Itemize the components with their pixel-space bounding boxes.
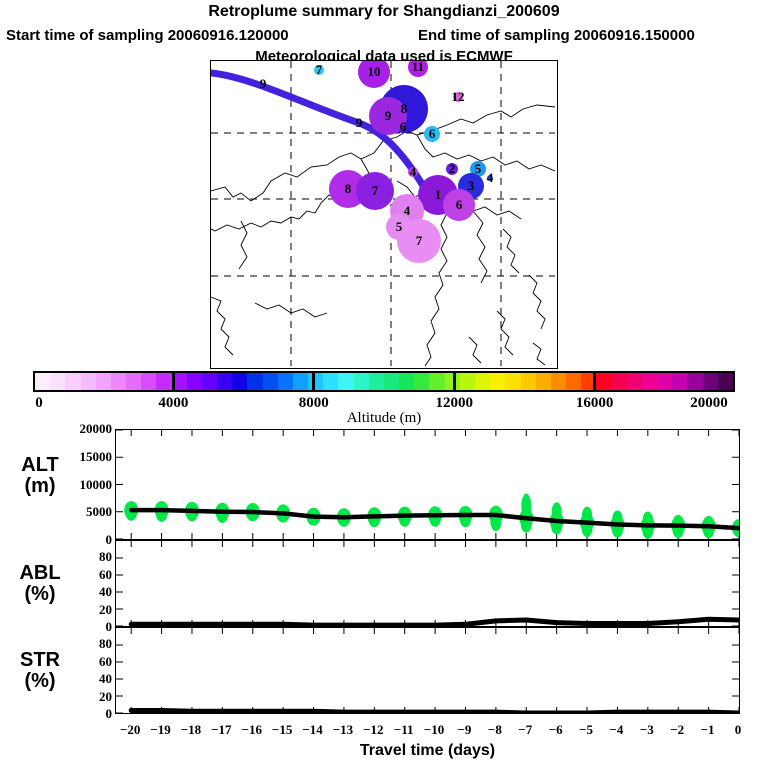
abl-label-main: ABL [4,563,76,584]
colorbar-cell [354,373,369,390]
alt-spread-marker [190,504,195,508]
y-tick-label: 0 [106,532,113,548]
colorbar-cell [414,373,429,390]
colorbar-cell [338,373,353,390]
colorbar-cell [156,373,171,390]
y-tick-label: 0 [106,619,113,635]
alt-spread-marker [433,508,438,512]
y-tick-label: 60 [99,654,112,670]
x-tick-label: −3 [640,722,654,738]
retroplume-map: 9710111289966543872416457 [210,60,558,369]
x-tick-label: −1 [701,722,715,738]
map-marker-label: 12 [452,89,465,105]
colorbar-cell [232,373,247,390]
y-tick-label: 0 [106,706,113,722]
map-marker-label: 8 [345,181,352,197]
map-marker-label: 9 [356,115,363,131]
colorbar-cell [505,373,520,390]
colorbar-cell [126,373,141,390]
colorbar-cell [596,373,611,390]
alt-axis-label: ALT (m) [4,455,76,497]
map-marker-label: 7 [372,183,379,199]
alt-spread-marker [645,512,650,516]
altitude-colorbar [33,371,735,392]
str-axis-label: STR (%) [4,650,76,692]
x-tick-label: −4 [609,722,623,738]
y-tick-label: 40 [99,584,112,600]
abl-plot [116,541,739,626]
map-marker-label: 7 [316,62,323,78]
str-panel [115,627,740,714]
alt-spread-marker [554,502,559,506]
colorbar-cell [536,373,551,390]
x-tick-label: −15 [272,722,292,738]
str-plot [116,628,739,713]
x-tick-label: −18 [181,722,201,738]
x-tick-label: −2 [670,722,684,738]
alt-spread-marker [615,510,620,514]
map-marker-label: 4 [487,170,494,186]
x-tick-label: −17 [211,722,231,738]
map-marker-label: 3 [468,178,475,194]
alt-spread-marker [159,503,164,507]
x-tick-label: −14 [302,722,322,738]
colorbar-cell [718,373,733,390]
colorbar-cell [642,373,657,390]
colorbar-cell [566,373,581,390]
colorbar-title: Altitude (m) [0,410,768,427]
map-marker-label: 7 [416,233,423,249]
colorbar-cell [384,373,399,390]
x-tick-label: −9 [458,722,472,738]
colorbar-separator [453,371,456,392]
map-marker-label: 8 [401,101,408,117]
x-tick-label: −5 [579,722,593,738]
str-label-main: STR [4,650,76,671]
str-line [131,710,739,713]
colorbar-cell [81,373,96,390]
x-tick-label: 0 [735,722,742,738]
map-marker-label: 10 [368,64,381,80]
map-marker-label: 6 [400,119,407,135]
str-label-unit: (%) [4,671,76,692]
x-tick-label: −6 [549,722,563,738]
colorbar-cell [35,373,50,390]
colorbar-separator [593,371,596,392]
alt-label-main: ALT [4,455,76,476]
colorbar-cell [65,373,80,390]
colorbar-cell [141,373,156,390]
y-tick-label: 10000 [80,477,113,493]
x-axis-title: Travel time (days) [115,742,740,760]
y-tick-label: 20 [99,602,112,618]
colorbar-cell [475,373,490,390]
y-tick-label: 80 [99,636,112,652]
colorbar-cell [657,373,672,390]
y-tick-label: 20000 [80,421,113,437]
colorbar-cell [521,373,536,390]
colorbar-cell [369,373,384,390]
map-marker-label: 6 [456,197,463,213]
colorbar-separator [312,371,315,392]
alt-spread-marker [250,506,255,510]
colorbar-cell [551,373,566,390]
x-tick-label: −12 [363,722,383,738]
x-tick-label: −11 [394,722,414,738]
start-time-label: Start time of sampling 20060916.120000 [6,27,289,44]
map-marker-label: 4 [404,203,411,219]
colorbar-cell [612,373,627,390]
colorbar-cell [429,373,444,390]
y-tick-label: 5000 [86,504,112,520]
colorbar-cell [187,373,202,390]
colorbar-cell [703,373,718,390]
alt-plot [116,430,739,539]
map-marker-label: 1 [435,187,442,203]
alt-spread-marker [372,507,377,511]
x-tick-label: −8 [488,722,502,738]
y-tick-label: 80 [99,549,112,565]
colorbar-cell [111,373,126,390]
colorbar-cell [490,373,505,390]
colorbar-cell [399,373,414,390]
alt-spread-marker [706,516,711,520]
page-title: Retroplume summary for Shangdianzi_20060… [0,3,768,21]
colorbar-cell [217,373,232,390]
alt-label-unit: (m) [4,476,76,497]
y-tick-label: 20 [99,689,112,705]
map-marker-label: 5 [396,219,403,235]
y-tick-label: 15000 [80,449,113,465]
x-tick-label: −16 [242,722,262,738]
colorbar-cell [672,373,687,390]
alt-spread-marker [676,515,681,519]
colorbar-cell [627,373,642,390]
abl-label-unit: (%) [4,584,76,605]
colorbar-cell [308,373,323,390]
map-marker-label: 9 [385,108,392,124]
colorbar-cell [50,373,65,390]
y-tick-label: 60 [99,567,112,583]
colorbar-cell [247,373,262,390]
y-tick-label: 40 [99,671,112,687]
alt-spread-marker [129,504,134,508]
alt-spread-marker [493,506,498,510]
colorbar-cell [96,373,111,390]
alt-spread-marker [402,507,407,511]
alt-spread-marker [585,507,590,511]
alt-spread-marker [220,506,225,510]
alt-spread-marker [281,506,286,510]
alt-spread-marker [524,494,529,498]
x-tick-label: −20 [120,722,140,738]
colorbar-cell [293,373,308,390]
abl-panel [115,540,740,627]
alt-spread-marker [463,507,468,511]
x-tick-label: −19 [150,722,170,738]
map-marker-label: 11 [412,60,424,75]
map-marker-label: 5 [475,161,482,177]
x-tick-label: −13 [333,722,353,738]
colorbar-cell [323,373,338,390]
map-marker-label: 2 [449,161,456,177]
alt-panel [115,429,740,540]
map-marker-label: 9 [260,76,267,92]
colorbar-cell [278,373,293,390]
alt-spread-marker [342,508,347,512]
map-marker-label: 4 [410,164,417,180]
colorbar-cell [460,373,475,390]
end-time-label: End time of sampling 20060916.150000 [418,27,695,44]
x-tick-label: −10 [424,722,444,738]
colorbar-cell [202,373,217,390]
x-tick-label: −7 [518,722,532,738]
map-marker-label: 6 [429,126,436,142]
colorbar-cell [263,373,278,390]
colorbar-cell [687,373,702,390]
colorbar-separator [172,371,175,392]
abl-axis-label: ABL (%) [4,563,76,605]
